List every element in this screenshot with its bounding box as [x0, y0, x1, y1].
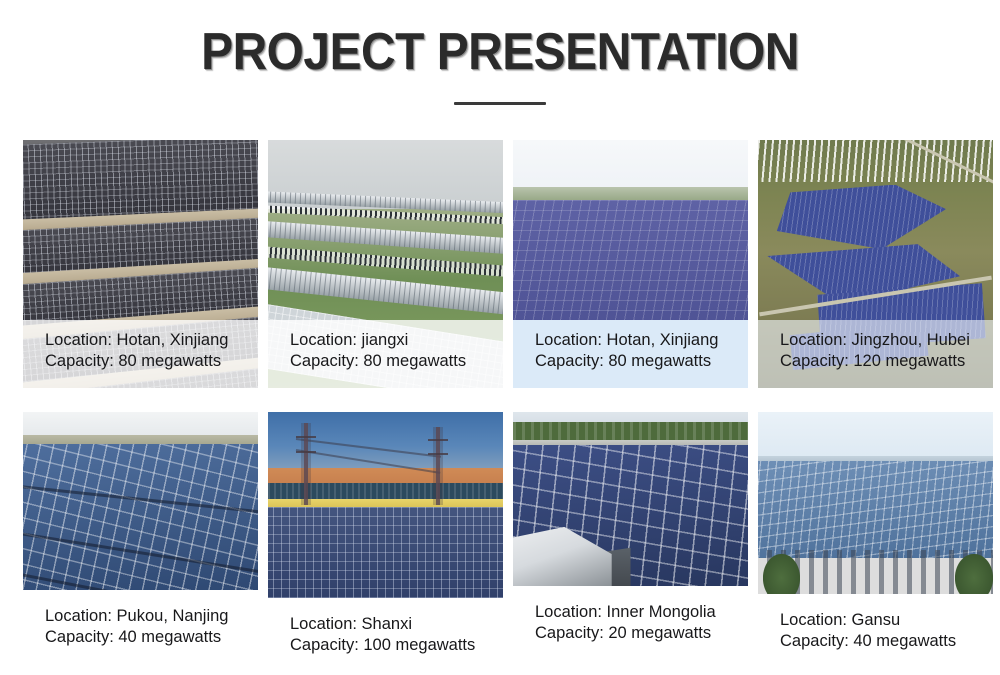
project-caption: Location: jiangxi Capacity: 80 megawatts	[268, 320, 503, 388]
gallery-row-2: Location: Pukou, Nanjing Capacity: 40 me…	[23, 412, 978, 656]
project-photo	[758, 412, 993, 594]
title-divider	[454, 102, 546, 105]
project-caption: Location: Shanxi Capacity: 100 megawatts	[268, 598, 503, 656]
scene-shanxi-dusk	[268, 412, 503, 598]
caption-location: Location: Gansu	[780, 610, 993, 631]
project-caption: Location: Pukou, Nanjing Capacity: 40 me…	[23, 590, 258, 648]
scene-gansu-industrial-roof	[758, 412, 993, 594]
caption-location: Location: Pukou, Nanjing	[45, 606, 258, 627]
project-card[interactable]: Location: Jingzhou, Hubei Capacity: 120 …	[758, 140, 993, 388]
project-photo	[23, 412, 258, 590]
project-card[interactable]: Location: jiangxi Capacity: 80 megawatts	[268, 140, 503, 388]
caption-capacity: Capacity: 80 megawatts	[45, 351, 258, 372]
project-card[interactable]: Location: Inner Mongolia Capacity: 20 me…	[513, 412, 748, 644]
caption-location: Location: jiangxi	[290, 330, 503, 351]
project-photo: Location: Hotan, Xinjiang Capacity: 80 m…	[513, 140, 748, 388]
project-caption: Location: Inner Mongolia Capacity: 20 me…	[513, 586, 748, 644]
caption-capacity: Capacity: 40 megawatts	[780, 631, 993, 652]
page-header: PROJECT PRESENTATION	[0, 0, 1000, 105]
project-caption: Location: Gansu Capacity: 40 megawatts	[758, 594, 993, 652]
project-card[interactable]: Location: Hotan, Xinjiang Capacity: 80 m…	[23, 140, 258, 388]
project-photo: Location: jiangxi Capacity: 80 megawatts	[268, 140, 503, 388]
caption-capacity: Capacity: 100 megawatts	[290, 635, 503, 656]
project-caption: Location: Hotan, Xinjiang Capacity: 80 m…	[23, 320, 258, 388]
project-photo: Location: Jingzhou, Hubei Capacity: 120 …	[758, 140, 993, 388]
scene-pukou-closeup	[23, 412, 258, 590]
project-photo	[513, 412, 748, 586]
project-card[interactable]: Location: Pukou, Nanjing Capacity: 40 me…	[23, 412, 258, 648]
caption-capacity: Capacity: 80 megawatts	[535, 351, 748, 372]
project-caption: Location: Hotan, Xinjiang Capacity: 80 m…	[513, 320, 748, 388]
project-photo: Location: Hotan, Xinjiang Capacity: 80 m…	[23, 140, 258, 388]
caption-location: Location: Shanxi	[290, 614, 503, 635]
page-title: PROJECT PRESENTATION	[40, 26, 960, 78]
gallery-row-1: Location: Hotan, Xinjiang Capacity: 80 m…	[23, 140, 978, 388]
caption-location: Location: Inner Mongolia	[535, 602, 748, 623]
project-caption: Location: Jingzhou, Hubei Capacity: 120 …	[758, 320, 993, 388]
caption-location: Location: Jingzhou, Hubei	[780, 330, 993, 351]
project-gallery: Location: Hotan, Xinjiang Capacity: 80 m…	[23, 140, 978, 656]
caption-capacity: Capacity: 20 megawatts	[535, 623, 748, 644]
caption-capacity: Capacity: 120 megawatts	[780, 351, 993, 372]
project-card[interactable]: Location: Shanxi Capacity: 100 megawatts	[268, 412, 503, 656]
caption-location: Location: Hotan, Xinjiang	[45, 330, 258, 351]
caption-capacity: Capacity: 80 megawatts	[290, 351, 503, 372]
caption-capacity: Capacity: 40 megawatts	[45, 627, 258, 648]
project-card[interactable]: Location: Hotan, Xinjiang Capacity: 80 m…	[513, 140, 748, 388]
project-photo	[268, 412, 503, 598]
scene-inner-mongolia-rooftop	[513, 412, 748, 586]
project-card[interactable]: Location: Gansu Capacity: 40 megawatts	[758, 412, 993, 652]
caption-location: Location: Hotan, Xinjiang	[535, 330, 748, 351]
